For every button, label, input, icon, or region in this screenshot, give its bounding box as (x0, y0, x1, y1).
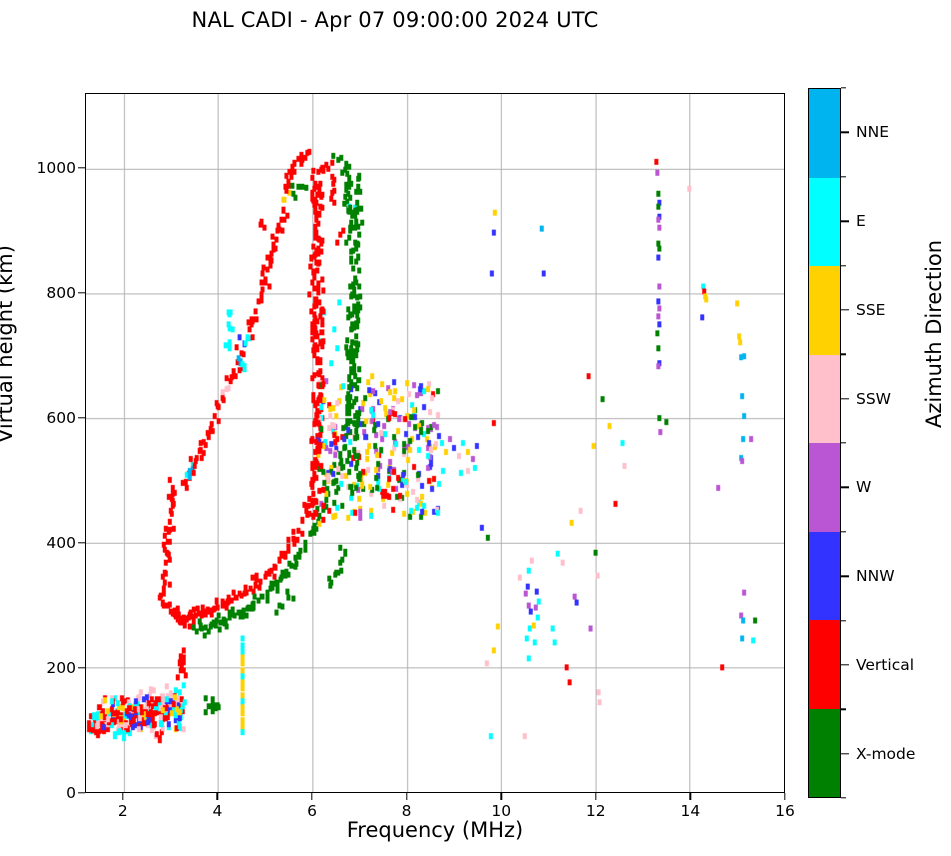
page-title: NAL CADI - Apr 07 09:00:00 2024 UTC (0, 8, 790, 32)
y-tick-mark (78, 542, 85, 543)
colorbar-segment-w (809, 443, 840, 532)
colorbar-tick (841, 664, 849, 665)
y-axis: 02004006008001000 (0, 93, 85, 793)
colorbar-tick (841, 575, 849, 576)
colorbar-tick (841, 487, 849, 488)
colorbar-label-e: E (856, 212, 866, 230)
colorbar-segment-vertical (809, 620, 840, 709)
colorbar-labels: NNEESSESSWWNNWVerticalX-mode (841, 88, 951, 798)
x-tick-mark (595, 793, 596, 800)
colorbar-label-vertical: Vertical (856, 656, 914, 674)
colorbar-segment-sse (809, 266, 840, 355)
y-tick-mark (78, 167, 85, 168)
colorbar-tick (841, 398, 849, 399)
y-tick-label: 400 (16, 534, 85, 552)
colorbar-tick (841, 220, 849, 221)
colorbar-tick (841, 753, 849, 754)
y-tick-label: 200 (16, 659, 85, 677)
ionogram-figure: NAL CADI - Apr 07 09:00:00 2024 UTC 0200… (0, 0, 951, 856)
y-tick-label: 0 (16, 784, 85, 802)
colorbar-segment-nnw (809, 532, 840, 621)
x-tick-mark (690, 793, 691, 800)
colorbar-label-nnw: NNW (856, 567, 895, 585)
x-tick-mark (217, 793, 218, 800)
colorbar (808, 88, 841, 798)
colorbar-boundary-tick (841, 176, 846, 177)
plot-area (85, 93, 785, 793)
x-axis-label: Frequency (MHz) (85, 818, 785, 842)
y-tick-mark (78, 667, 85, 668)
colorbar-label-ssw: SSW (856, 390, 891, 408)
y-tick-label: 800 (16, 284, 85, 302)
colorbar-boundary-tick (841, 709, 846, 710)
x-tick-mark (501, 793, 502, 800)
colorbar-label-nne: NNE (856, 123, 889, 141)
y-tick-mark (78, 292, 85, 293)
x-tick-mark (406, 793, 407, 800)
colorbar-boundary-tick (841, 87, 846, 88)
colorbar-tick (841, 309, 849, 310)
colorbar-label-x-mode: X-mode (856, 745, 915, 763)
y-tick-mark (78, 417, 85, 418)
scatter-canvas (86, 94, 784, 792)
colorbar-boundary-tick (841, 620, 846, 621)
x-tick-mark (784, 793, 785, 800)
colorbar-boundary-tick (841, 354, 846, 355)
colorbar-tick (841, 132, 849, 133)
x-tick-mark (311, 793, 312, 800)
colorbar-segment-nne (809, 89, 840, 178)
colorbar-segment-x-mode (809, 709, 840, 798)
y-tick-label: 600 (16, 409, 85, 427)
colorbar-boundary-tick (841, 797, 846, 798)
y-axis-label: Virtual height (km) (0, 245, 17, 443)
colorbar-boundary-tick (841, 265, 846, 266)
y-tick-mark (78, 792, 85, 793)
colorbar-label-w: W (856, 478, 871, 496)
colorbar-label-sse: SSE (856, 301, 885, 319)
colorbar-boundary-tick (841, 531, 846, 532)
colorbar-boundary-tick (841, 442, 846, 443)
colorbar-segment-ssw (809, 355, 840, 444)
colorbar-segment-e (809, 178, 840, 267)
colorbar-title: Azimuth Direction (922, 240, 946, 428)
y-tick-label: 1000 (16, 159, 85, 177)
x-tick-mark (122, 793, 123, 800)
